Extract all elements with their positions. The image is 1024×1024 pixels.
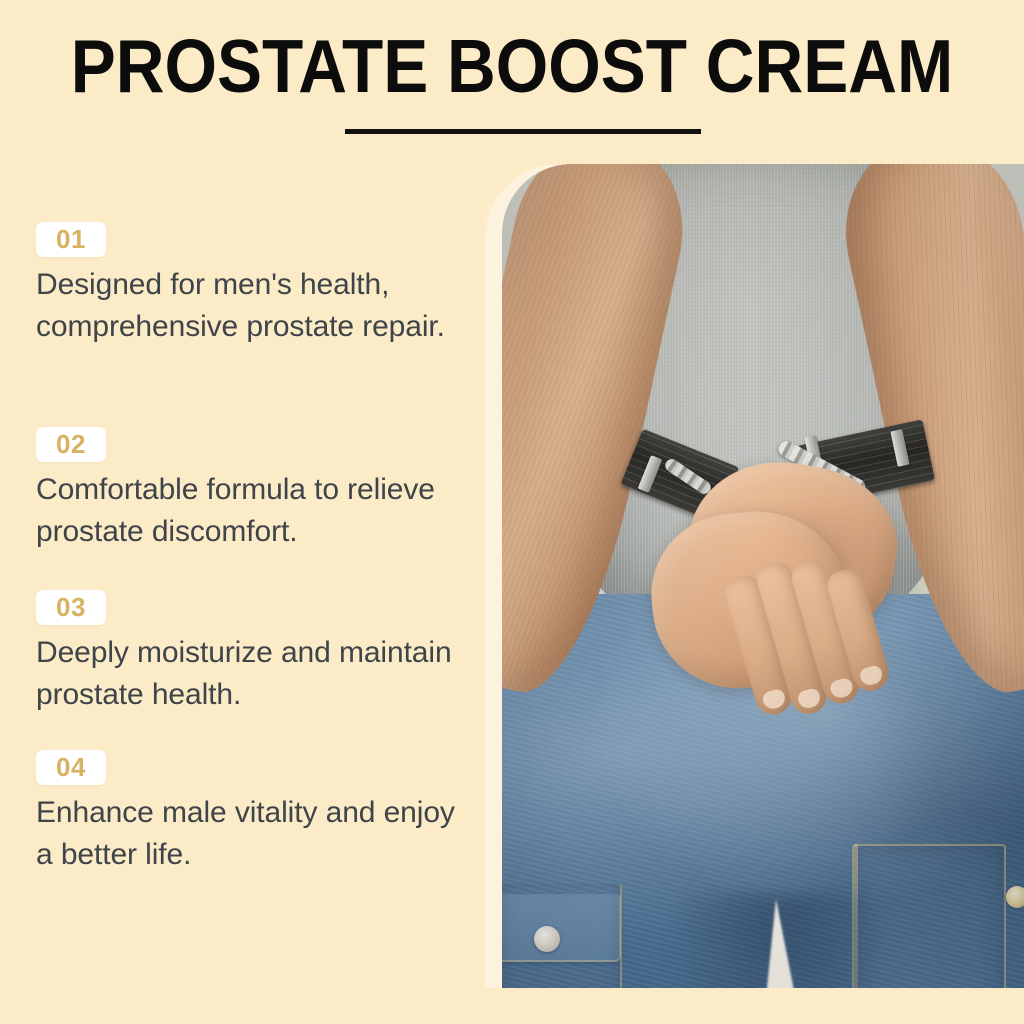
feature-text-01: Designed for men's health, comprehensive… (36, 264, 456, 348)
jeans-left-cargo-pocket (502, 884, 622, 988)
jeans-left-pocket-button (534, 926, 560, 952)
feature-item-01: 01 Designed for men's health, comprehens… (36, 222, 456, 348)
feature-item-03: 03 Deeply moisturize and maintain prosta… (36, 590, 456, 716)
product-photo (502, 164, 1024, 988)
page-title: PROSTATE BOOST CREAM (51, 24, 973, 108)
feature-text-02: Comfortable formula to relieve prostate … (36, 469, 456, 553)
feature-number-badge-03: 03 (36, 590, 106, 625)
title-underline (345, 129, 701, 134)
jeans-leg-gap (746, 899, 834, 988)
feature-number-badge-04: 04 (36, 750, 106, 785)
fingernail (829, 677, 855, 700)
fingernail (796, 687, 822, 710)
fingernail (858, 664, 884, 687)
feature-item-02: 02 Comfortable formula to relieve prosta… (36, 427, 456, 553)
feature-number-badge-01: 01 (36, 222, 106, 257)
feature-text-03: Deeply moisturize and maintain prostate … (36, 632, 456, 716)
feature-text-04: Enhance male vitality and enjoy a better… (36, 792, 456, 876)
poster-header: PROSTATE BOOST CREAM (0, 0, 1024, 150)
fingernail (761, 688, 787, 711)
jeans-right-pocket-button (1006, 886, 1024, 908)
feature-item-04: 04 Enhance male vitality and enjoy a bet… (36, 750, 456, 876)
feature-list: 01 Designed for men's health, comprehens… (0, 150, 480, 1024)
photo-illustration (502, 164, 1024, 988)
feature-number-badge-02: 02 (36, 427, 106, 462)
product-poster: PROSTATE BOOST CREAM 01 Designed for men… (0, 0, 1024, 1024)
